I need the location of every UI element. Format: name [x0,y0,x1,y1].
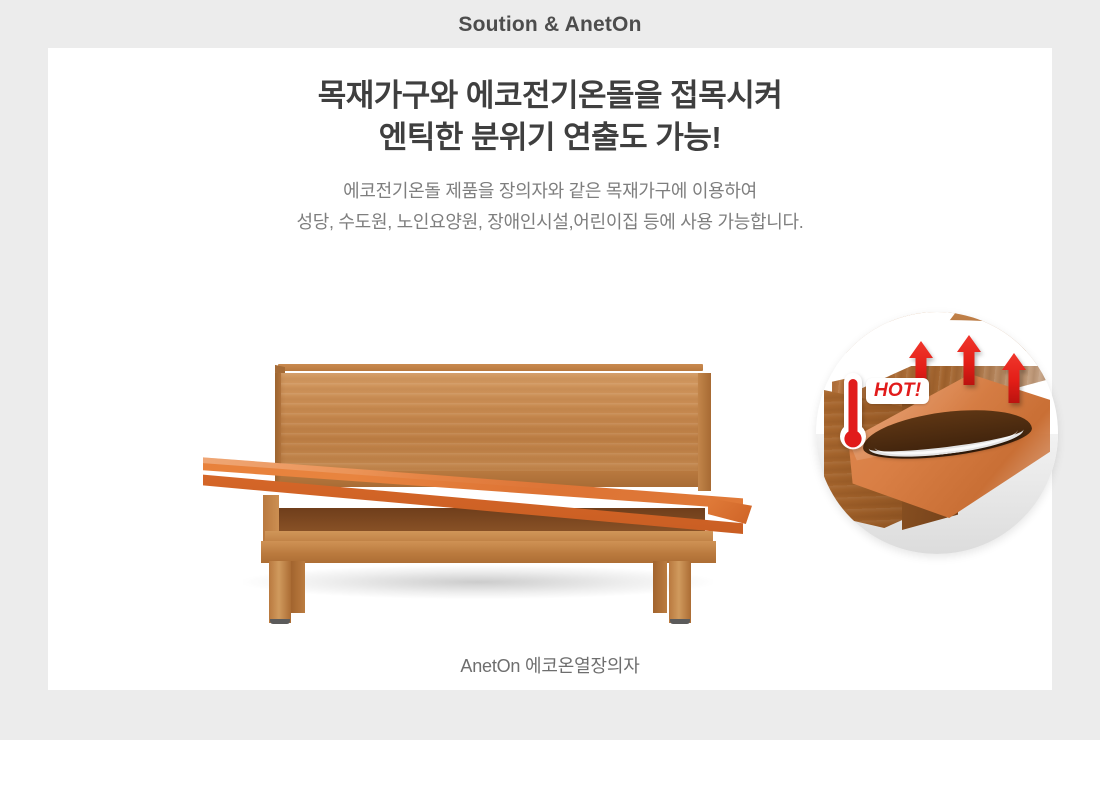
page-title-line-2: 엔틱한 분위기 연출도 가능! [48,117,1052,159]
bench-heated-cushion [203,453,743,543]
arrow-up-heat-icon [1001,352,1027,404]
hot-label-badge: HOT! [866,378,929,404]
bench-leg-right [669,561,691,623]
page-subtitle-line-2: 성당, 수도원, 노인요양원, 장애인시설,어린이집 등에 사용 가능합니다. [48,207,1052,238]
bench-leg-left [269,561,291,623]
bench-base-front-rail [261,541,716,563]
thermometer-icon [836,370,870,460]
page-title: 목재가구와 에코전기온돌을 접목시켜 엔틱한 분위기 연출도 가능! [48,75,1052,159]
page-subtitle-line-1: 에코전기온돌 제품을 장의자와 같은 목재가구에 이용하여 [48,176,1052,207]
bench-leg-inner-left [291,561,305,613]
content-card: 목재가구와 에코전기온돌을 접목시켜 엔틱한 분위기 연출도 가능! 에코전기온… [48,48,1052,690]
brand-header-title: Soution & AnetOn [0,13,1100,37]
arrow-up-heat-icon [956,334,982,386]
product-illustration-bench [203,303,763,623]
page-root: Soution & AnetOn 목재가구와 에코전기온돌을 접목시켜 엔틱한 … [0,0,1100,788]
bench-foot-right [670,619,690,624]
bench-backrest-top-cap [278,364,703,371]
product-caption: AnetOn 에코온열장의자 [48,652,1052,678]
heat-detail-callout: HOT! [816,312,1058,554]
bench-foot-left [270,619,290,624]
page-title-line-1: 목재가구와 에코전기온돌을 접목시켜 [48,75,1052,117]
bench-ground-shadow [243,565,713,599]
bench-leg-inner-right [653,561,667,613]
page-subtitle: 에코전기온돌 제품을 장의자와 같은 목재가구에 이용하여 성당, 수도원, 노… [48,176,1052,238]
